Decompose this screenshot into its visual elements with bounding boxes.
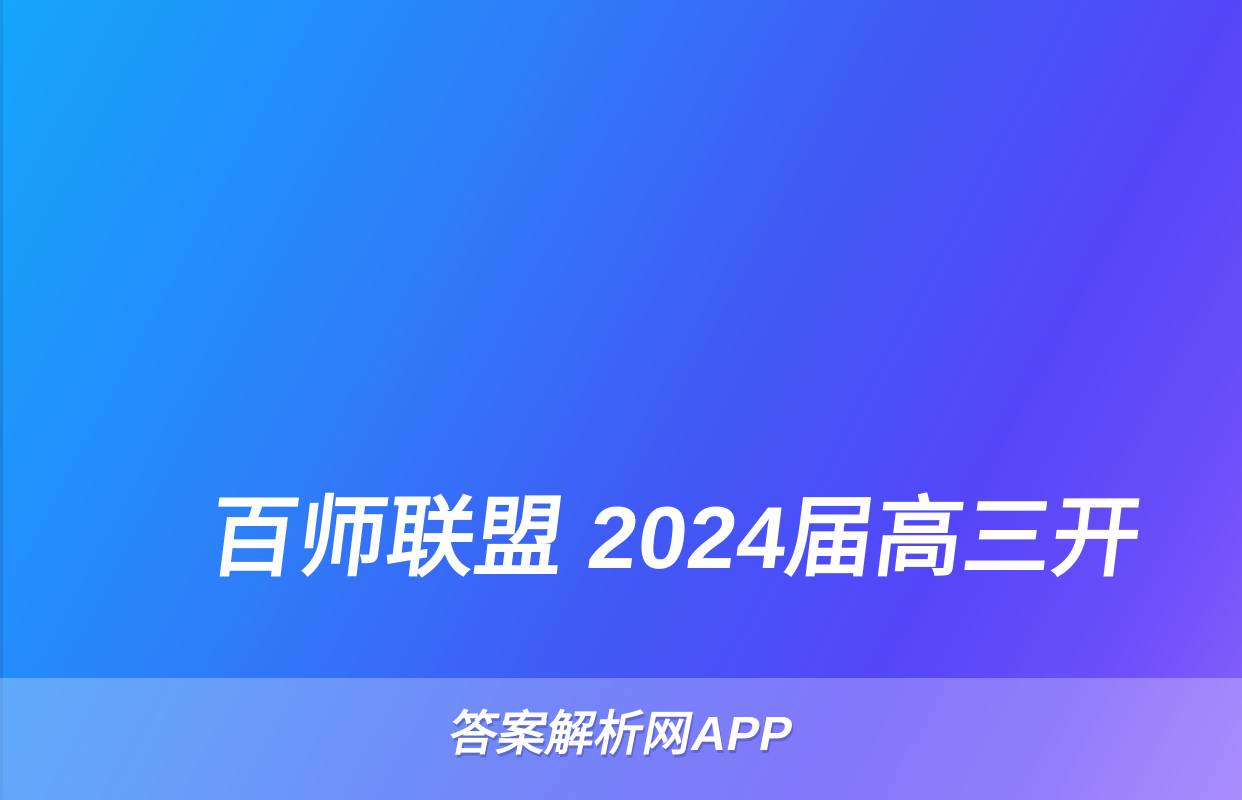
poster-canvas: 百师联盟 2024届高三开 年摸底联考 福建卷化学 答案 答案解析网APP <box>0 0 1242 800</box>
title-line-1: 百师联盟 2024届高三开 <box>45 464 1242 612</box>
watermark-text: 答案解析网APP <box>0 704 1242 766</box>
